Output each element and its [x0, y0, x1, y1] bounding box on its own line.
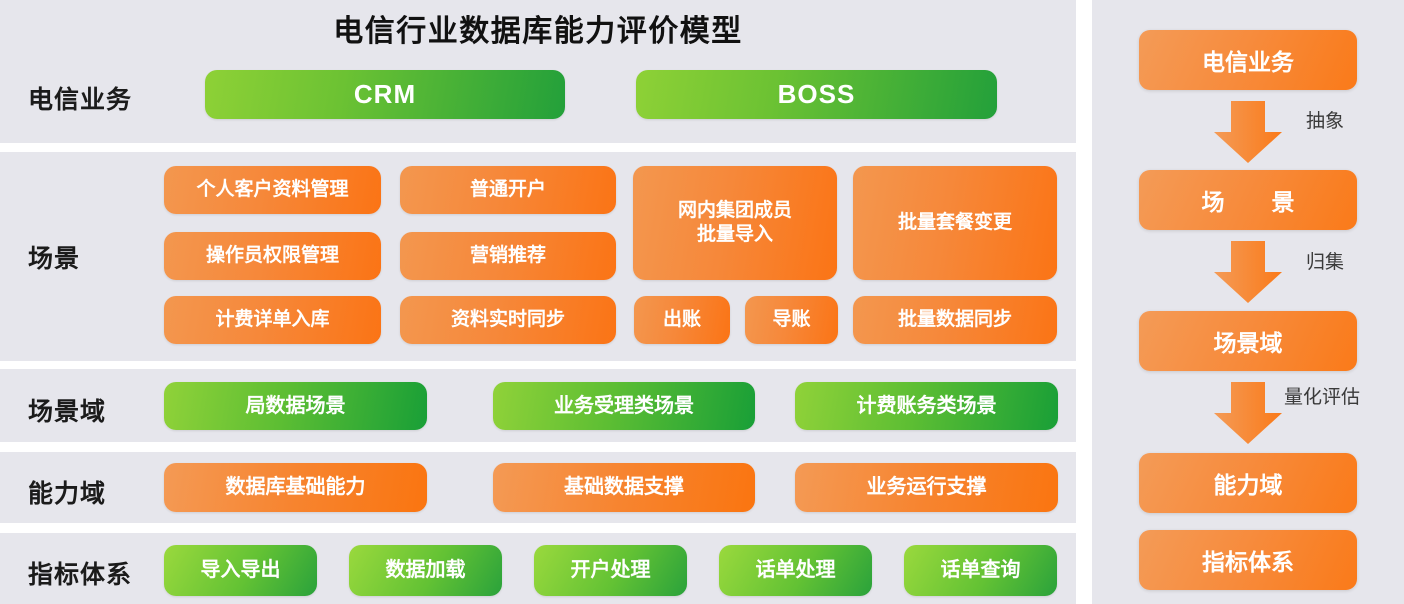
- down-arrow-icon: [1214, 101, 1282, 163]
- row-label-scenario-domain: 场景域: [28, 392, 158, 428]
- tile-scenario-billing-out[interactable]: 出账: [634, 296, 730, 344]
- evaluation-model-diagram: 电信行业数据库能力评价模型 电信业务 场景 场景域 能力域 指标体系 CRM B…: [0, 0, 1404, 604]
- tile-business-boss[interactable]: BOSS: [636, 70, 997, 119]
- row-label-capability-domain: 能力域: [28, 474, 158, 510]
- tile-scenario-domain-bureau-data[interactable]: 局数据场景: [164, 382, 427, 430]
- flow-box-metric-system[interactable]: 指标体系: [1139, 530, 1357, 590]
- tile-metric-account-open-process[interactable]: 开户处理: [534, 545, 687, 596]
- tile-business-crm[interactable]: CRM: [205, 70, 565, 119]
- tile-scenario-marketing-recommendation[interactable]: 营销推荐: [400, 232, 616, 280]
- flow-box-capability-domain[interactable]: 能力域: [1139, 453, 1357, 513]
- row-label-business: 电信业务: [28, 80, 158, 116]
- tile-scenario-billing-export[interactable]: 导账: [745, 296, 838, 344]
- tile-capability-basic-data-support[interactable]: 基础数据支撑: [493, 463, 755, 512]
- tile-metric-cdr-process[interactable]: 话单处理: [719, 545, 872, 596]
- tile-scenario-normal-account-open[interactable]: 普通开户: [400, 166, 616, 214]
- tile-capability-business-operation-support[interactable]: 业务运行支撑: [795, 463, 1058, 512]
- tile-scenario-domain-billing-accounting[interactable]: 计费账务类场景: [795, 382, 1058, 430]
- tile-scenario-realtime-data-sync[interactable]: 资料实时同步: [400, 296, 616, 344]
- flow-box-scenario[interactable]: 场 景: [1139, 170, 1357, 230]
- flow-arrow-label-abstract: 抽象: [1306, 106, 1344, 133]
- tile-scenario-personal-customer-info[interactable]: 个人客户资料管理: [164, 166, 381, 214]
- down-arrow-icon: [1214, 382, 1282, 444]
- tile-metric-cdr-query[interactable]: 话单查询: [904, 545, 1057, 596]
- down-arrow-icon: [1214, 241, 1282, 303]
- page-title: 电信行业数据库能力评价模型: [0, 6, 1076, 50]
- abstraction-flow-panel: 电信业务 抽象 场 景 归: [1092, 0, 1404, 604]
- tile-scenario-domain-service-handling[interactable]: 业务受理类场景: [493, 382, 755, 430]
- tile-metric-import-export[interactable]: 导入导出: [164, 545, 317, 596]
- row-label-scenario: 场景: [28, 239, 158, 275]
- flow-box-telecom-business[interactable]: 电信业务: [1139, 30, 1357, 90]
- flow-box-scenario-domain[interactable]: 场景域: [1139, 311, 1357, 371]
- flow-arrow-label-aggregate: 归集: [1306, 247, 1344, 274]
- tile-scenario-batch-data-sync[interactable]: 批量数据同步: [853, 296, 1057, 344]
- tile-scenario-group-member-batch-import[interactable]: 网内集团成员 批量导入: [633, 166, 837, 280]
- tile-scenario-billing-detail-load[interactable]: 计费详单入库: [164, 296, 381, 344]
- tile-capability-database-foundation[interactable]: 数据库基础能力: [164, 463, 427, 512]
- model-layers-panel: 电信行业数据库能力评价模型 电信业务 场景 场景域 能力域 指标体系 CRM B…: [0, 0, 1076, 604]
- tile-scenario-operator-permission[interactable]: 操作员权限管理: [164, 232, 381, 280]
- flow-arrow-label-quantitative-assessment: 量化评估: [1284, 382, 1360, 409]
- tile-metric-data-load[interactable]: 数据加载: [349, 545, 502, 596]
- row-label-metric-system: 指标体系: [28, 555, 158, 591]
- tile-scenario-batch-package-change[interactable]: 批量套餐变更: [853, 166, 1057, 280]
